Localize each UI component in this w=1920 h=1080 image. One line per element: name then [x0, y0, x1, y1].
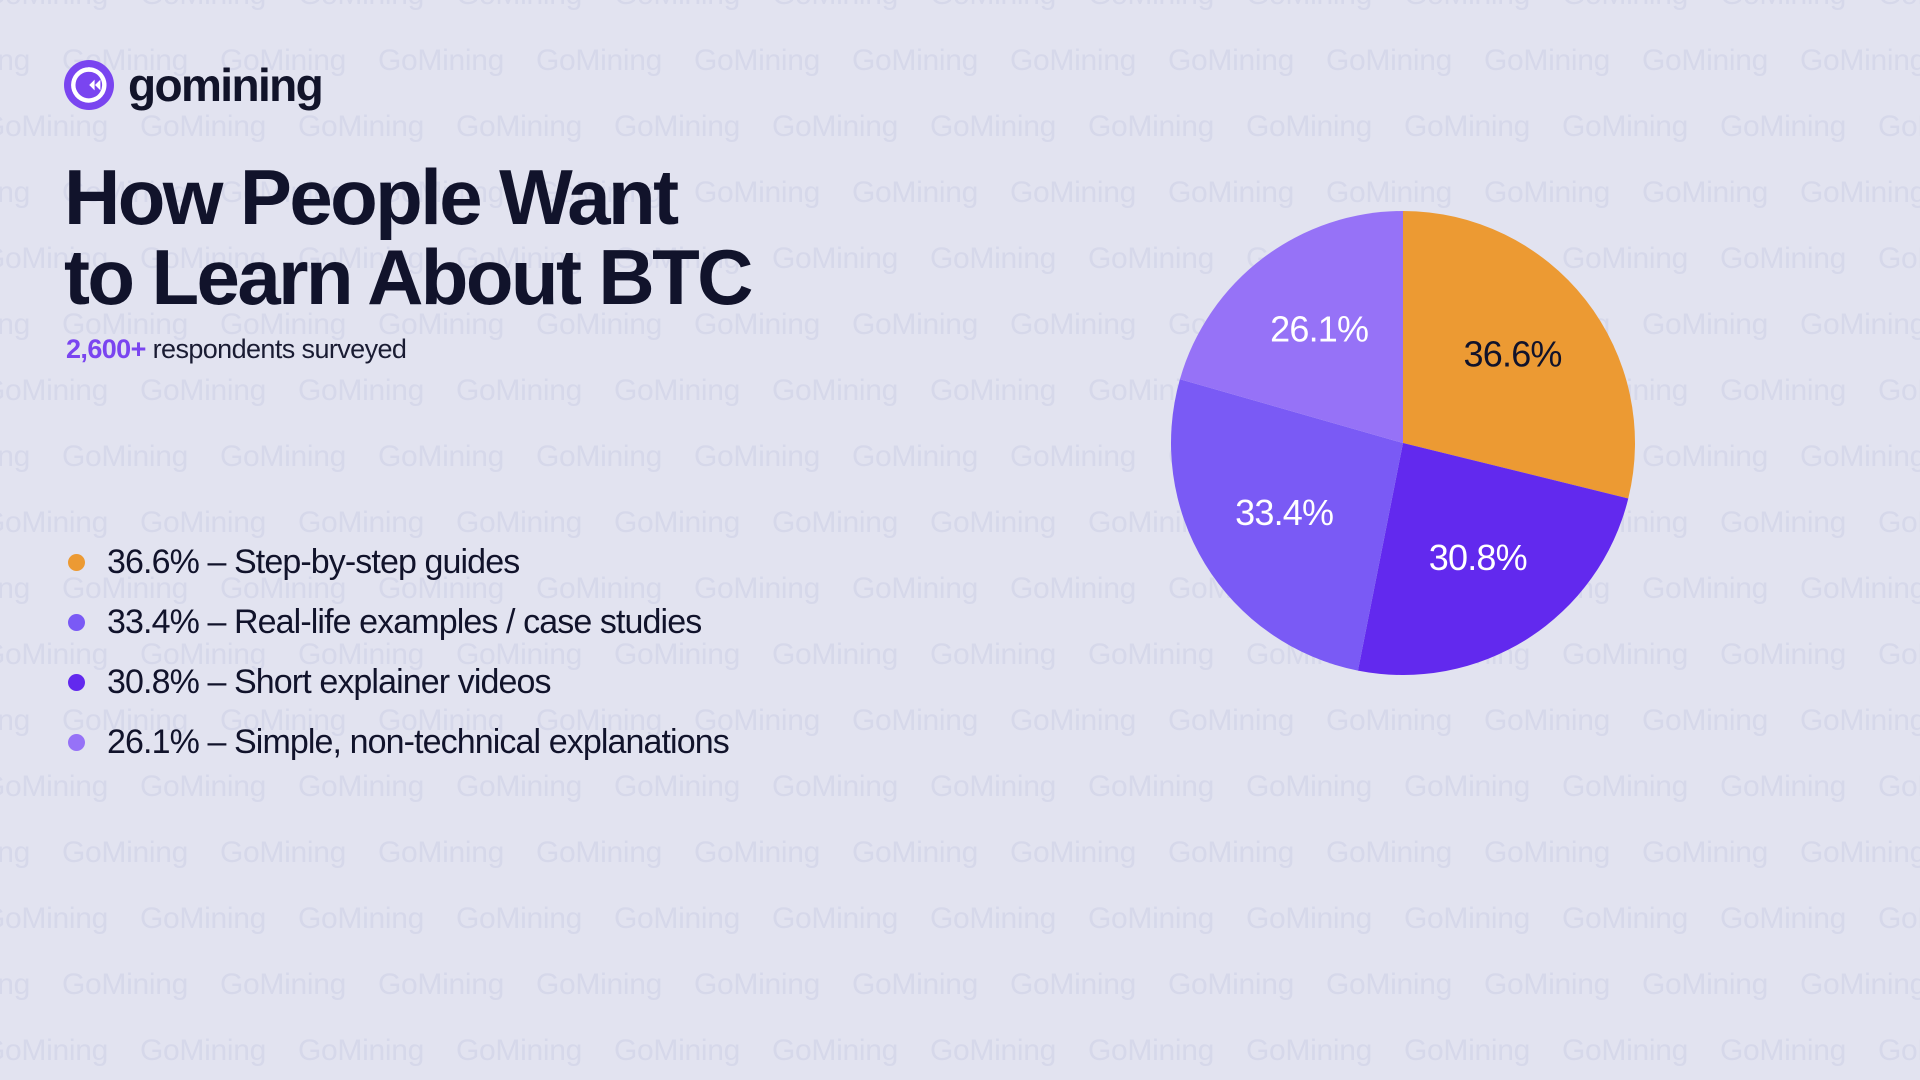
watermark-word: GoMining — [930, 242, 1056, 275]
watermark-word: GoMining — [1484, 176, 1610, 209]
watermark-word: GoMining — [1720, 506, 1846, 539]
brand-wordmark: gomining — [128, 62, 322, 108]
watermark-word: GoMining — [1878, 638, 1920, 671]
watermark-word: GoMining — [1720, 374, 1846, 407]
watermark-word: GoMining — [298, 902, 424, 935]
watermark-word: GoMining — [1878, 1034, 1920, 1067]
watermark-word: GoMining — [1562, 1034, 1688, 1067]
watermark-word: GoMining — [378, 440, 504, 473]
watermark-word: GoMining — [536, 836, 662, 869]
watermark-word: GoMining — [536, 44, 662, 77]
watermark-word: GoMining — [1484, 704, 1610, 737]
watermark-word: GoMining — [614, 0, 740, 11]
watermark-word: GoMining — [1484, 836, 1610, 869]
watermark-word: GoMining — [930, 374, 1056, 407]
watermark-word: GoMining — [1168, 836, 1294, 869]
watermark-word: GoMining — [1088, 0, 1214, 11]
watermark-word: GoMining — [1484, 44, 1610, 77]
watermark-word: GoMining — [1878, 374, 1920, 407]
watermark-word: GoMining — [536, 440, 662, 473]
watermark-word: GoMining — [1642, 176, 1768, 209]
watermark-word: GoMining — [0, 110, 108, 143]
watermark-word: GoMining — [1168, 968, 1294, 1001]
watermark-word: GoMining — [298, 506, 424, 539]
watermark-word: GoMining — [1246, 902, 1372, 935]
watermark-word: GoMining — [1878, 242, 1920, 275]
watermark-word: GoMining — [930, 0, 1056, 11]
legend-color-dot — [68, 734, 85, 751]
watermark-word: GoMining — [1246, 1034, 1372, 1067]
watermark-word: GoMining — [1878, 770, 1920, 803]
watermark-word: GoMining — [0, 308, 30, 341]
watermark-word: GoMining — [852, 440, 978, 473]
watermark-word: GoMining — [852, 704, 978, 737]
watermark-word: GoMining — [1404, 770, 1530, 803]
watermark-word: GoMining — [140, 506, 266, 539]
watermark-word: GoMining — [1404, 1034, 1530, 1067]
watermark-word: GoMining — [614, 110, 740, 143]
watermark-word: GoMining — [456, 770, 582, 803]
watermark-word: GoMining — [852, 836, 978, 869]
watermark-word: GoMining — [456, 1034, 582, 1067]
watermark-word: GoMining — [1642, 968, 1768, 1001]
watermark-word: GoMining — [1010, 968, 1136, 1001]
watermark-word: GoMining — [1404, 110, 1530, 143]
watermark-word: GoMining — [1562, 770, 1688, 803]
watermark-word: GoMining — [1800, 440, 1920, 473]
watermark-word: GoMining — [1800, 308, 1920, 341]
watermark-word: GoMining — [694, 968, 820, 1001]
legend-color-dot — [68, 614, 85, 631]
watermark-word: GoMining — [614, 374, 740, 407]
watermark-word: GoMining — [1878, 506, 1920, 539]
watermark-word: GoMining — [614, 506, 740, 539]
watermark-word: GoMining — [1642, 572, 1768, 605]
infographic-canvas: GoMiningGoMiningGoMiningGoMiningGoMining… — [0, 0, 1920, 1080]
watermark-word: GoMining — [772, 110, 898, 143]
watermark-word: GoMining — [1720, 638, 1846, 671]
watermark-word: GoMining — [772, 506, 898, 539]
legend-item-label: 36.6% – Step-by-step guides — [107, 545, 519, 579]
watermark-word: GoMining — [1800, 836, 1920, 869]
watermark-word: GoMining — [1404, 0, 1530, 11]
watermark-word: GoMining — [772, 1034, 898, 1067]
watermark-word: GoMining — [1010, 176, 1136, 209]
watermark-word: GoMining — [1088, 770, 1214, 803]
watermark-word: GoMining — [1642, 836, 1768, 869]
watermark-word: GoMining — [1720, 1034, 1846, 1067]
watermark-word: GoMining — [220, 440, 346, 473]
watermark-word: GoMining — [378, 836, 504, 869]
watermark-word: GoMining — [1642, 44, 1768, 77]
legend-item: 26.1% – Simple, non-technical explanatio… — [64, 720, 729, 764]
chart-legend: 36.6% – Step-by-step guides33.4% – Real-… — [64, 540, 729, 764]
watermark-word: GoMining — [0, 770, 108, 803]
respondent-count: 2,600+ — [66, 334, 146, 364]
watermark-word: GoMining — [1878, 110, 1920, 143]
watermark-word: GoMining — [694, 836, 820, 869]
page-title: How People Want to Learn About BTC — [64, 158, 751, 317]
watermark-word: GoMining — [930, 506, 1056, 539]
watermark-word: GoMining — [62, 836, 188, 869]
watermark-word: GoMining — [1326, 968, 1452, 1001]
watermark-word: GoMining — [1010, 572, 1136, 605]
legend-item: 33.4% – Real-life examples / case studie… — [64, 600, 729, 644]
watermark-word: GoMining — [1010, 440, 1136, 473]
watermark-word: GoMining — [1800, 176, 1920, 209]
pie-slice-label: 30.8% — [1429, 537, 1527, 578]
watermark-word: GoMining — [1800, 704, 1920, 737]
watermark-word: GoMining — [930, 110, 1056, 143]
watermark-word: GoMining — [1642, 308, 1768, 341]
pie-chart-svg: 36.6%30.8%33.4%26.1% — [1171, 211, 1635, 675]
watermark-word: GoMining — [1088, 1034, 1214, 1067]
watermark-word: GoMining — [1800, 44, 1920, 77]
watermark-row: GoMiningGoMiningGoMiningGoMiningGoMining… — [0, 904, 1920, 934]
watermark-word: GoMining — [456, 374, 582, 407]
watermark-word: GoMining — [1404, 902, 1530, 935]
watermark-word: GoMining — [0, 1034, 108, 1067]
watermark-word: GoMining — [140, 110, 266, 143]
pie-slice-label: 36.6% — [1464, 334, 1562, 375]
watermark-word: GoMining — [1326, 44, 1452, 77]
pie-chart: 36.6%30.8%33.4%26.1% — [1171, 211, 1635, 675]
watermark-word: GoMining — [298, 0, 424, 11]
watermark-word: GoMining — [1088, 902, 1214, 935]
page-title-line-2: to Learn About BTC — [64, 238, 751, 318]
watermark-word: GoMining — [140, 902, 266, 935]
watermark-word: GoMining — [0, 0, 108, 11]
watermark-word: GoMining — [298, 374, 424, 407]
watermark-word: GoMining — [1010, 704, 1136, 737]
watermark-word: GoMining — [694, 44, 820, 77]
subtitle: 2,600+ respondents surveyed — [66, 336, 406, 363]
watermark-word: GoMining — [456, 506, 582, 539]
watermark-word: GoMining — [1168, 704, 1294, 737]
watermark-word: GoMining — [1642, 704, 1768, 737]
watermark-row: GoMiningGoMiningGoMiningGoMiningGoMining… — [0, 838, 1920, 868]
watermark-word: GoMining — [140, 1034, 266, 1067]
watermark-word: GoMining — [1326, 836, 1452, 869]
watermark-word: GoMining — [852, 968, 978, 1001]
watermark-word: GoMining — [1878, 0, 1920, 11]
watermark-word: GoMining — [1168, 44, 1294, 77]
watermark-word: GoMining — [1562, 110, 1688, 143]
watermark-word: GoMining — [1484, 968, 1610, 1001]
pie-slice-label: 26.1% — [1270, 308, 1368, 349]
watermark-word: GoMining — [1246, 110, 1372, 143]
watermark-word: GoMining — [0, 704, 30, 737]
watermark-word: GoMining — [772, 770, 898, 803]
watermark-word: GoMining — [1010, 308, 1136, 341]
legend-item: 30.8% – Short explainer videos — [64, 660, 729, 704]
watermark-word: GoMining — [0, 506, 108, 539]
pie-slice-label: 33.4% — [1235, 492, 1333, 533]
watermark-word: GoMining — [1562, 902, 1688, 935]
watermark-word: GoMining — [0, 176, 30, 209]
watermark-word: GoMining — [772, 638, 898, 671]
watermark-word: GoMining — [0, 902, 108, 935]
watermark-word: GoMining — [0, 440, 30, 473]
watermark-word: GoMining — [1246, 0, 1372, 11]
watermark-word: GoMining — [378, 968, 504, 1001]
watermark-word: GoMining — [536, 968, 662, 1001]
watermark-word: GoMining — [1720, 242, 1846, 275]
watermark-word: GoMining — [1878, 902, 1920, 935]
watermark-word: GoMining — [1326, 176, 1452, 209]
watermark-word: GoMining — [1246, 770, 1372, 803]
watermark-word: GoMining — [1168, 176, 1294, 209]
watermark-word: GoMining — [852, 44, 978, 77]
watermark-word: GoMining — [298, 770, 424, 803]
watermark-word: GoMining — [614, 770, 740, 803]
subtitle-text: respondents surveyed — [146, 334, 407, 364]
watermark-word: GoMining — [772, 242, 898, 275]
watermark-word: GoMining — [1720, 770, 1846, 803]
watermark-word: GoMining — [62, 968, 188, 1001]
watermark-word: GoMining — [930, 770, 1056, 803]
watermark-word: GoMining — [1562, 0, 1688, 11]
legend-item-label: 30.8% – Short explainer videos — [107, 665, 551, 699]
watermark-word: GoMining — [852, 572, 978, 605]
legend-item-label: 33.4% – Real-life examples / case studie… — [107, 605, 701, 639]
watermark-word: GoMining — [930, 1034, 1056, 1067]
watermark-word: GoMining — [1326, 704, 1452, 737]
watermark-word: GoMining — [1010, 836, 1136, 869]
watermark-word: GoMining — [852, 308, 978, 341]
watermark-word: GoMining — [772, 374, 898, 407]
watermark-word: GoMining — [614, 902, 740, 935]
watermark-word: GoMining — [220, 836, 346, 869]
watermark-word: GoMining — [1642, 440, 1768, 473]
watermark-word: GoMining — [298, 1034, 424, 1067]
watermark-word: GoMining — [0, 572, 30, 605]
watermark-word: GoMining — [0, 968, 30, 1001]
page-title-line-1: How People Want — [64, 153, 676, 241]
brand-logo: gomining — [64, 60, 322, 110]
watermark-word: GoMining — [930, 638, 1056, 671]
watermark-row: GoMiningGoMiningGoMiningGoMiningGoMining… — [0, 112, 1920, 142]
gomining-circle-logo-icon — [64, 60, 114, 110]
watermark-word: GoMining — [1720, 902, 1846, 935]
watermark-word: GoMining — [140, 0, 266, 11]
watermark-word: GoMining — [930, 902, 1056, 935]
watermark-word: GoMining — [140, 374, 266, 407]
watermark-word: GoMining — [1088, 110, 1214, 143]
watermark-row: GoMiningGoMiningGoMiningGoMiningGoMining… — [0, 1036, 1920, 1066]
watermark-word: GoMining — [614, 1034, 740, 1067]
legend-item: 36.6% – Step-by-step guides — [64, 540, 729, 584]
watermark-word: GoMining — [220, 968, 346, 1001]
watermark-word: GoMining — [456, 0, 582, 11]
watermark-word: GoMining — [1720, 0, 1846, 11]
watermark-word: GoMining — [1720, 110, 1846, 143]
watermark-word: GoMining — [298, 110, 424, 143]
watermark-word: GoMining — [378, 44, 504, 77]
watermark-word: GoMining — [772, 902, 898, 935]
watermark-word: GoMining — [0, 44, 30, 77]
legend-item-label: 26.1% – Simple, non-technical explanatio… — [107, 725, 729, 759]
watermark-word: GoMining — [694, 440, 820, 473]
watermark-word: GoMining — [62, 440, 188, 473]
watermark-word: GoMining — [0, 836, 30, 869]
watermark-row: GoMiningGoMiningGoMiningGoMiningGoMining… — [0, 970, 1920, 1000]
watermark-word: GoMining — [1010, 44, 1136, 77]
legend-color-dot — [68, 674, 85, 691]
watermark-word: GoMining — [852, 176, 978, 209]
watermark-row: GoMiningGoMiningGoMiningGoMiningGoMining… — [0, 0, 1920, 10]
watermark-word: GoMining — [0, 374, 108, 407]
watermark-word: GoMining — [1800, 572, 1920, 605]
watermark-word: GoMining — [1800, 968, 1920, 1001]
legend-color-dot — [68, 554, 85, 571]
watermark-word: GoMining — [772, 0, 898, 11]
watermark-word: GoMining — [140, 770, 266, 803]
watermark-word: GoMining — [456, 902, 582, 935]
watermark-word: GoMining — [456, 110, 582, 143]
watermark-row: GoMiningGoMiningGoMiningGoMiningGoMining… — [0, 772, 1920, 802]
